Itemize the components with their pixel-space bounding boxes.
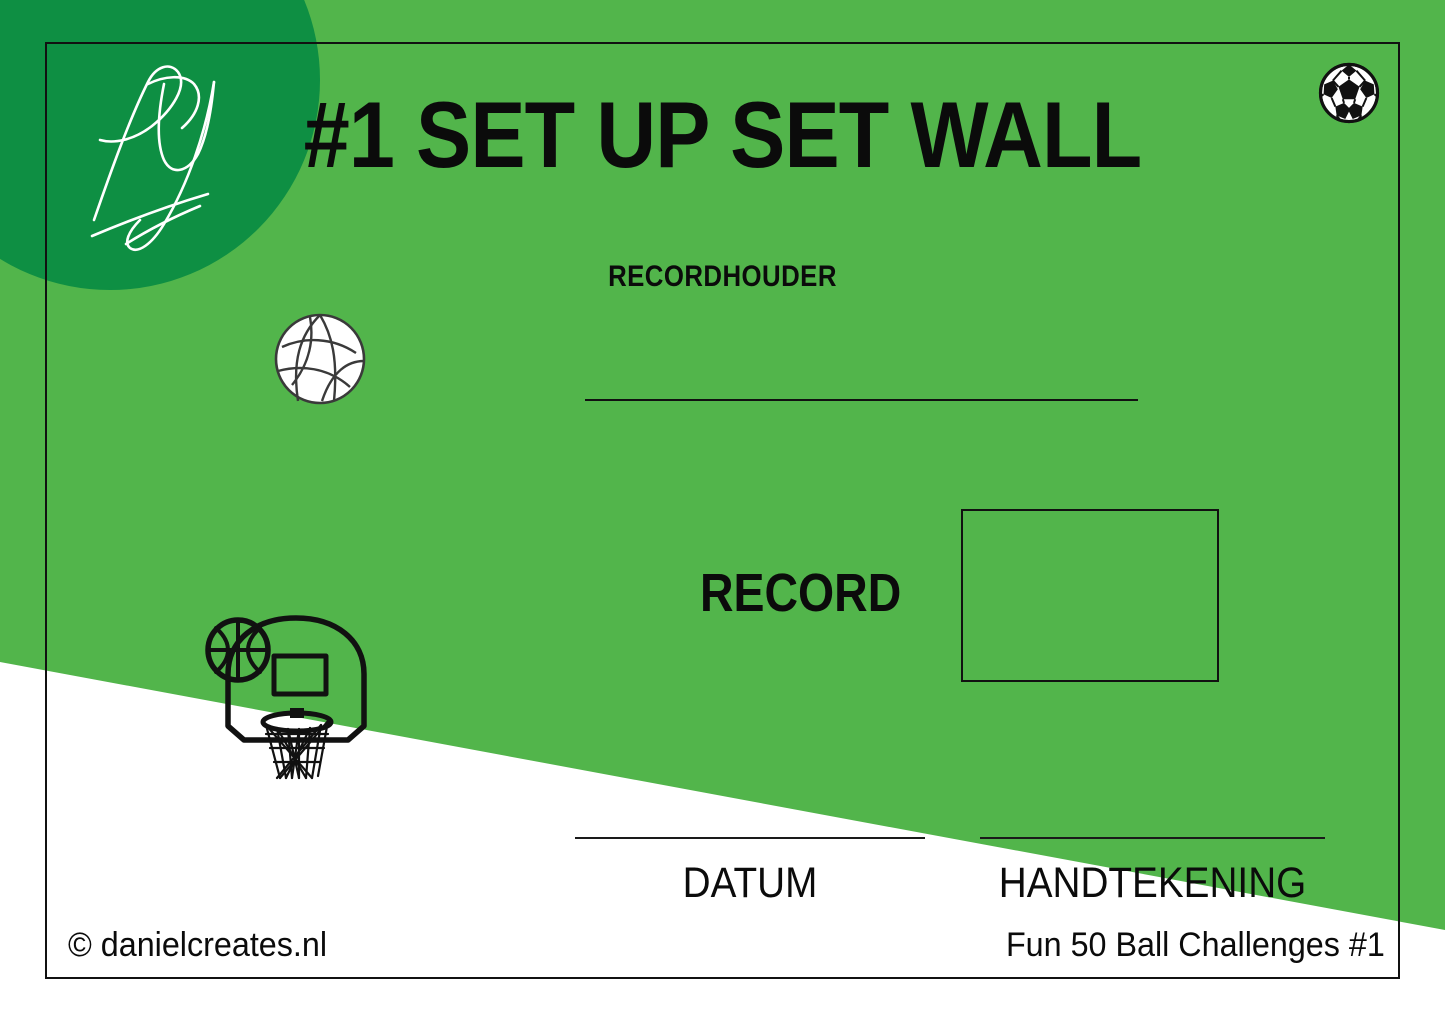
signature-input-line[interactable] <box>980 837 1325 839</box>
recordholder-label: RECORDHOUDER <box>101 262 1344 292</box>
date-input-line[interactable] <box>575 837 925 839</box>
recordholder-input-line[interactable] <box>585 399 1138 401</box>
copyright-footer: © danielcreates.nl <box>68 928 327 962</box>
record-label: RECORD <box>700 566 901 620</box>
volleyball-icon <box>270 309 370 409</box>
date-label: DATUM <box>593 862 908 905</box>
basketball-hoop-icon <box>200 608 395 788</box>
signature-label: HANDTEKENING <box>979 862 1326 905</box>
series-footer: Fun 50 Ball Challenges #1 <box>1006 928 1385 962</box>
record-value-box[interactable] <box>961 509 1219 682</box>
page-title: #1 SET UP SET WALL <box>87 88 1359 182</box>
record-certificate-poster: #1 SET UP SET WALL RECORDHOUDER RECORD D… <box>0 0 1445 1022</box>
